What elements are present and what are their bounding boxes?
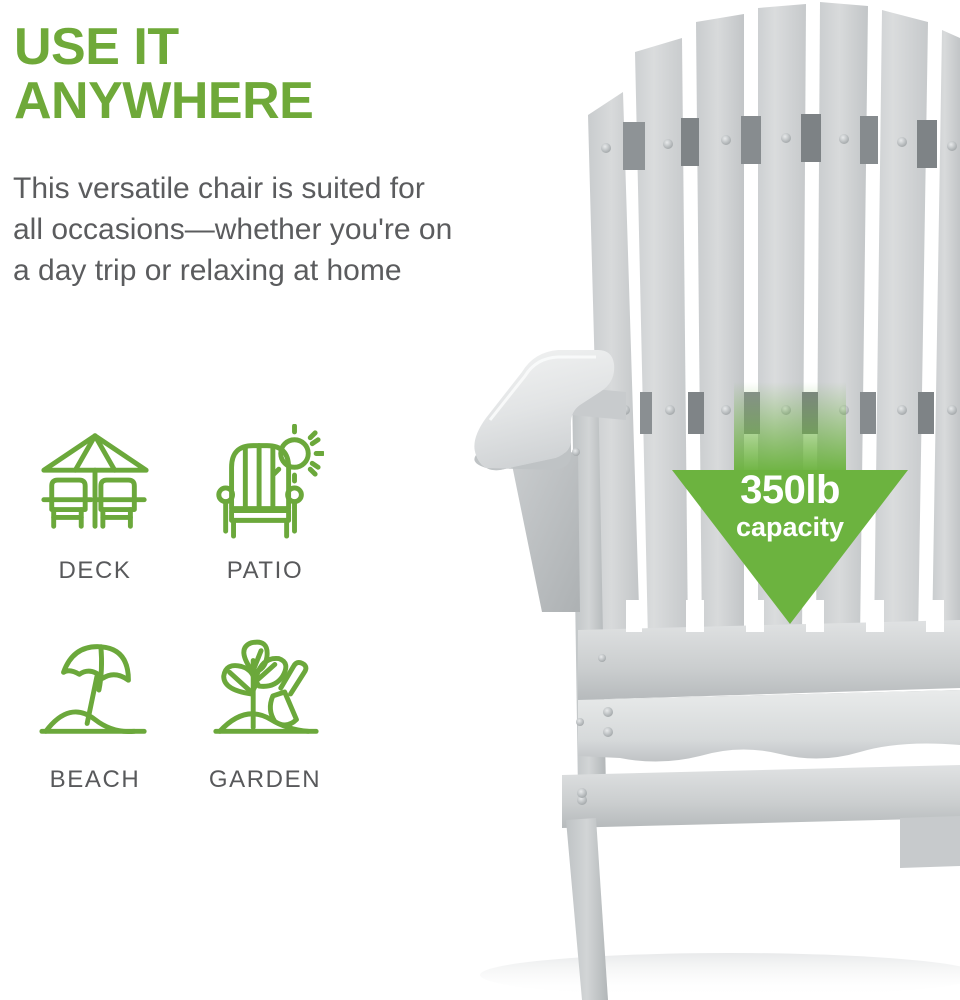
adirondack-chair-sun-icon — [205, 420, 325, 545]
umbrella-two-chairs-icon — [35, 420, 155, 545]
use-case-label: BEACH — [50, 766, 141, 794]
use-case-patio: PATIO — [180, 420, 350, 585]
seat-front-board — [578, 690, 960, 762]
chair-rear-foot — [900, 816, 960, 868]
armrest-support-bracket — [510, 452, 580, 612]
front-leg-screw — [577, 788, 587, 798]
use-case-garden: GARDEN — [180, 629, 350, 794]
use-case-beach: BEACH — [10, 629, 180, 794]
plant-trowel-icon — [205, 629, 325, 754]
use-case-deck: DECK — [10, 420, 180, 585]
floor-shadow — [480, 953, 960, 997]
grid-row-spacer — [10, 585, 350, 629]
armrest-screw — [572, 448, 580, 456]
down-arrow-icon — [672, 382, 908, 624]
beach-umbrella-dune-icon — [35, 629, 155, 754]
use-case-label: PATIO — [227, 557, 303, 585]
description-text: This versatile chair is suited for all o… — [13, 168, 553, 291]
use-case-label: GARDEN — [209, 766, 321, 794]
use-case-row-bottom: BEACH — [10, 629, 350, 794]
capacity-badge: 350lb capacity — [672, 382, 908, 624]
use-case-row-top: DECK — [10, 420, 350, 585]
use-case-grid: DECK — [10, 420, 350, 794]
page-title: USE IT ANYWHERE — [14, 20, 414, 128]
product-feature-image: 350lb capacity USE IT ANYWHERE This vers… — [0, 0, 960, 1000]
use-case-label: DECK — [58, 557, 131, 585]
